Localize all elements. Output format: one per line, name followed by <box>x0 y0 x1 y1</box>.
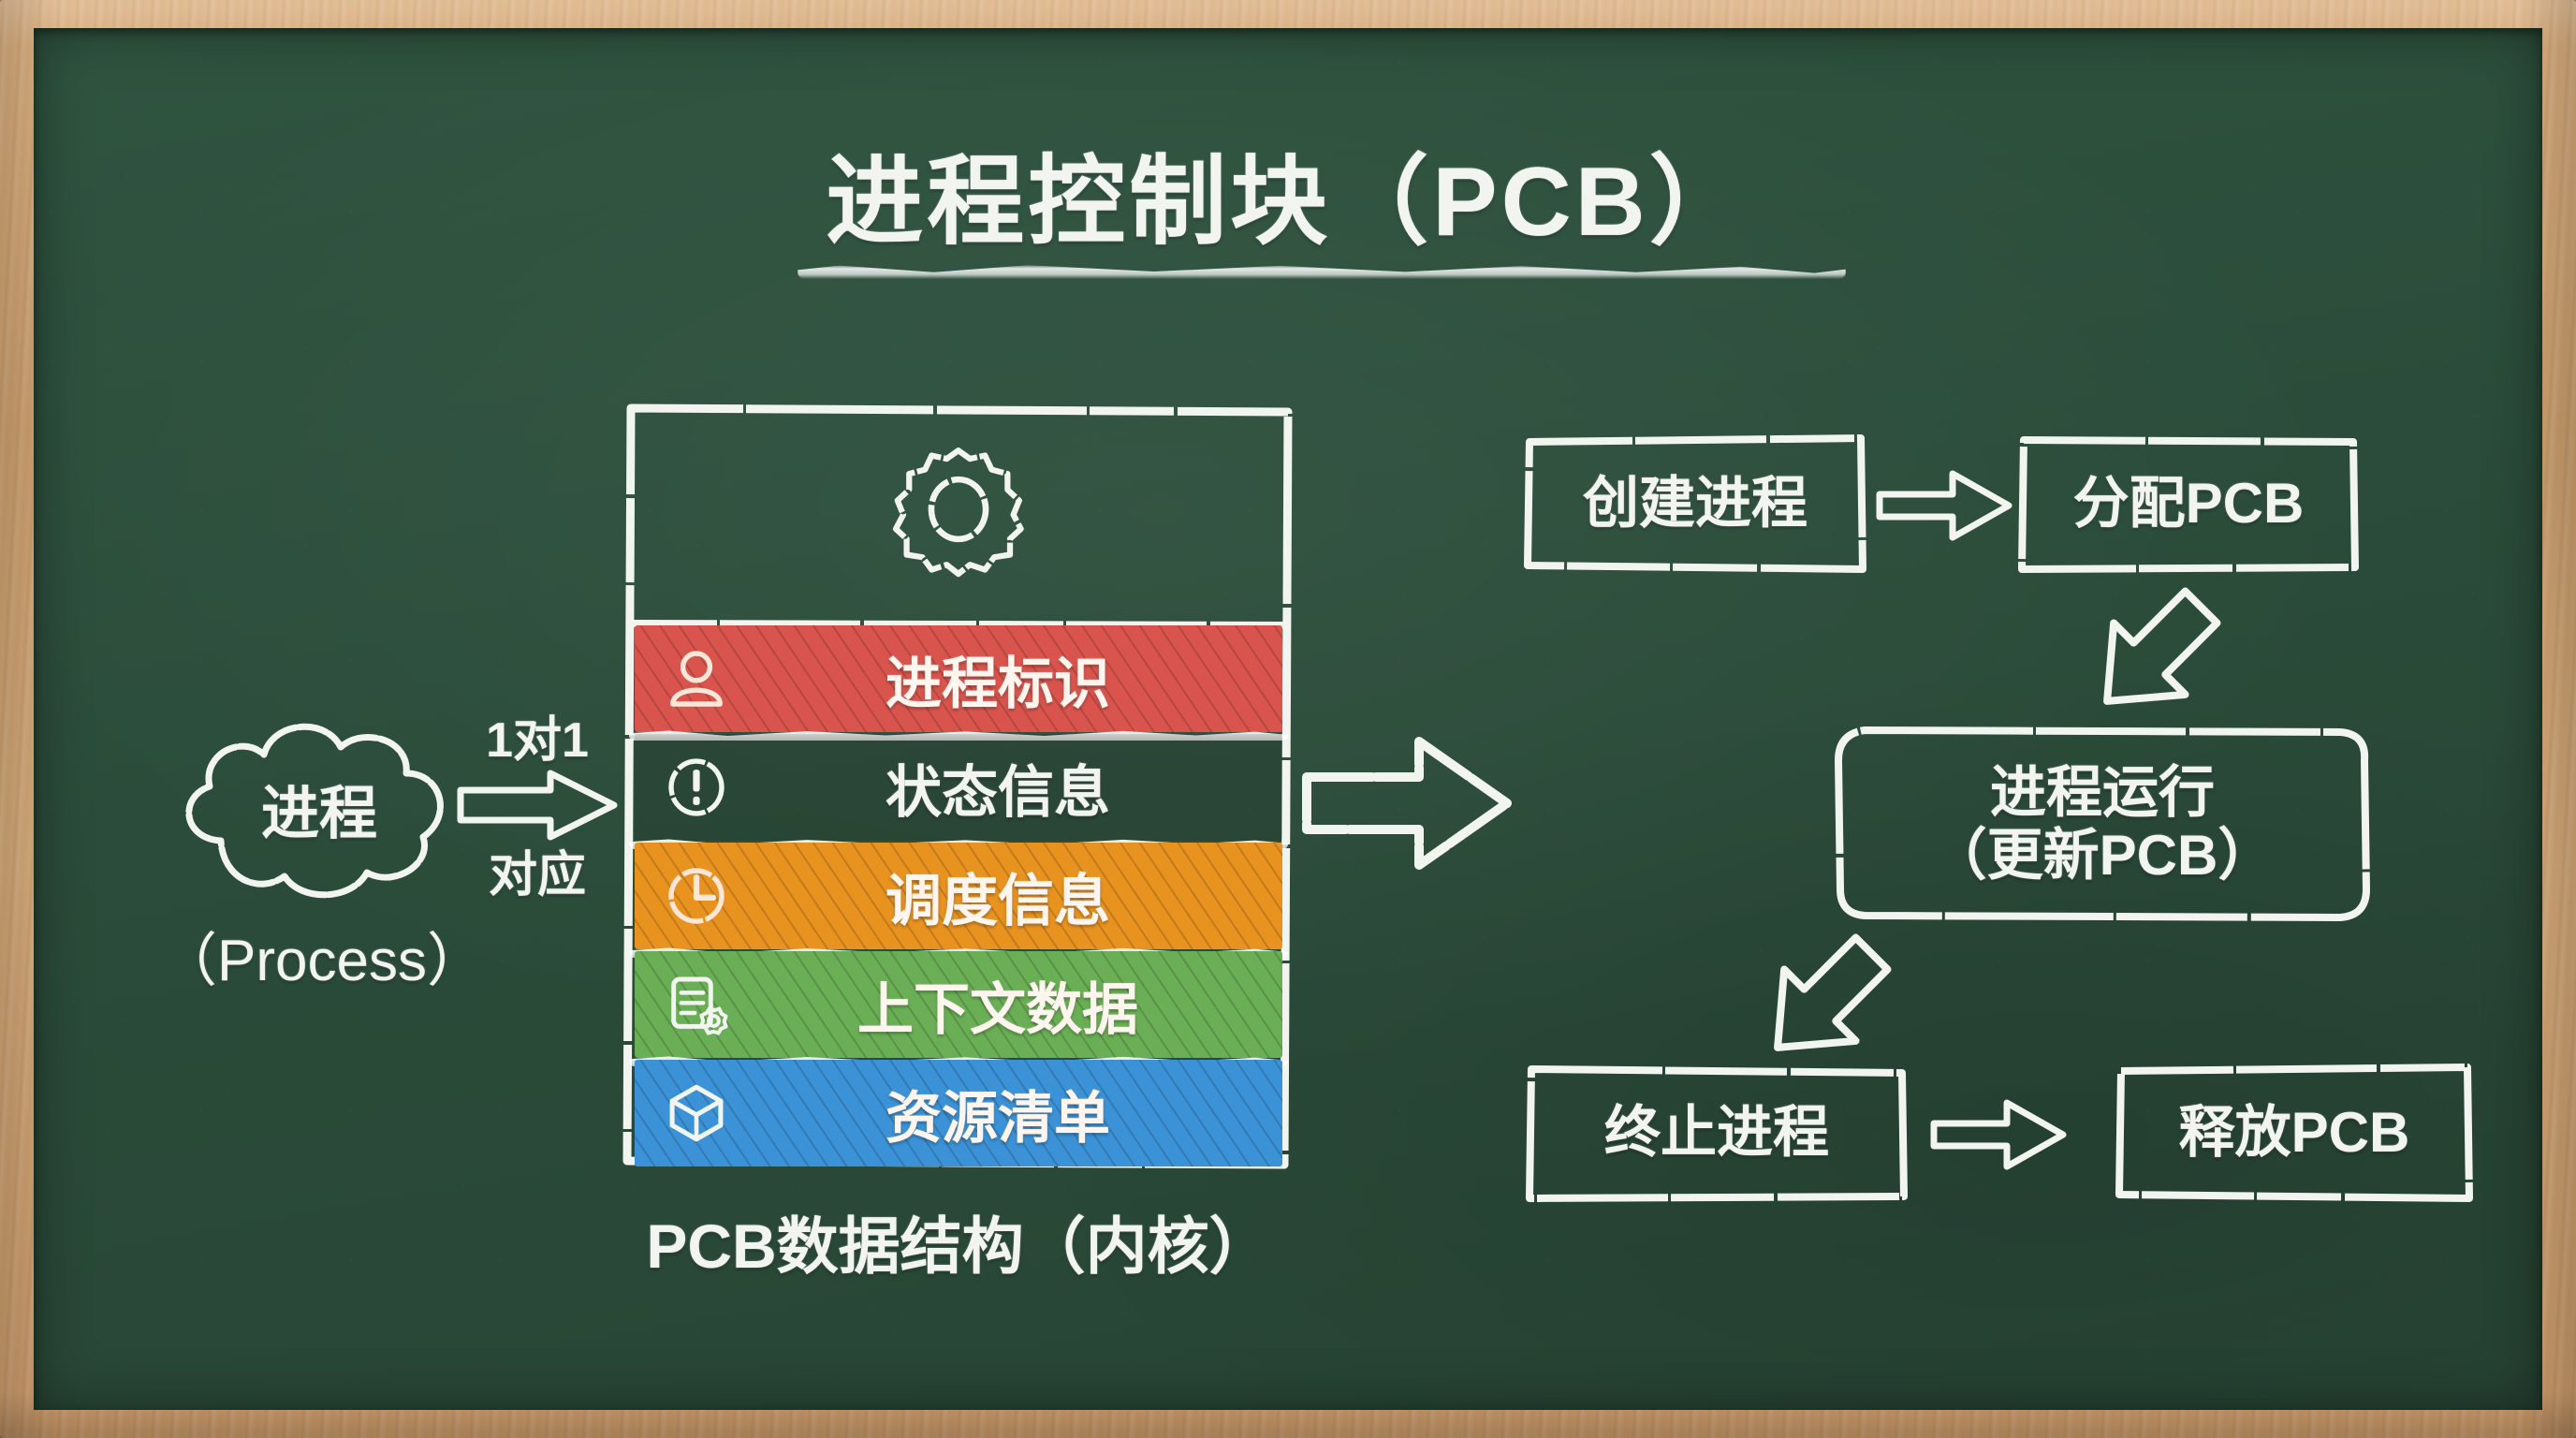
flow-node-allocate-pcb[interactable]: 分配PCB <box>2016 433 2361 575</box>
big-right-arrow-icon <box>1299 728 1515 878</box>
relation-label-top: 1对1 <box>453 700 622 770</box>
flow-arrow-alloc-to-run-icon <box>2071 579 2239 728</box>
pcb-row-label: 上下文数据 <box>758 964 1282 1046</box>
relation-label-bottom: 对应 <box>453 835 622 905</box>
flow-node-label: 进程运行 （更新PCB） <box>1909 761 2297 887</box>
pcb-structure-caption: PCB数据结构（内核） <box>584 1196 1333 1286</box>
flow-node-label: 终止进程 <box>1582 1101 1851 1164</box>
user-icon <box>635 645 758 712</box>
process-cloud-label: 进程 <box>165 700 474 916</box>
flow-node-release-pcb[interactable]: 释放PCB <box>2114 1062 2475 1204</box>
pcb-row-resource-list[interactable]: 资源清单 <box>635 1060 1282 1167</box>
flow-arrow-create-to-alloc-icon <box>1874 466 2014 545</box>
open-box-icon <box>635 1078 758 1148</box>
flow-arrow-run-to-terminate-icon <box>1741 925 1910 1075</box>
pcb-row-label: 调度信息 <box>758 856 1282 937</box>
pcb-row-state-info[interactable]: 状态信息 <box>635 734 1282 841</box>
pcb-row-schedule-info[interactable]: 调度信息 <box>635 843 1282 949</box>
flow-arrow-terminate-to-release-icon <box>1928 1095 2069 1174</box>
process-english-label: （Process） <box>135 913 509 997</box>
pcb-row-label: 资源清单 <box>758 1073 1282 1154</box>
pcb-field-list: 进程标识 状态信息 <box>635 625 1282 1167</box>
page-title: 进程控制块（PCB） <box>34 122 2542 263</box>
flow-node-label-line1: 进程运行 <box>1990 761 2215 824</box>
pcb-row-label: 状态信息 <box>758 747 1282 829</box>
exclamation-circle-icon <box>635 754 758 821</box>
flow-node-label: 分配PCB <box>2051 472 2327 535</box>
process-cloud: 进程 <box>165 700 474 916</box>
flow-node-terminate-process[interactable]: 终止进程 <box>1524 1062 1910 1204</box>
relation-arrow-icon <box>453 768 622 843</box>
clock-icon <box>635 862 758 930</box>
gear-icon <box>622 401 1295 618</box>
pcb-row-context-data[interactable]: 上下文数据 <box>635 951 1282 1058</box>
pcb-structure-panel: 进程标识 状态信息 <box>622 401 1295 1170</box>
flow-node-label: 创建进程 <box>1560 472 1830 535</box>
title-underline <box>798 264 1846 279</box>
flow-node-label-line2: （更新PCB） <box>1931 824 2275 887</box>
document-gear-icon <box>635 971 758 1038</box>
chalkboard-surface: 进程控制块（PCB） 进程 （Process） 1对1 对应 <box>34 28 2542 1410</box>
flow-node-label: 释放PCB <box>2157 1101 2433 1164</box>
pcb-row-process-id[interactable]: 进程标识 <box>635 625 1282 732</box>
flow-node-create-process[interactable]: 创建进程 <box>1522 433 1868 575</box>
flow-node-process-running[interactable]: 进程运行 （更新PCB） <box>1833 723 2372 925</box>
pcb-row-label: 进程标识 <box>758 638 1282 720</box>
